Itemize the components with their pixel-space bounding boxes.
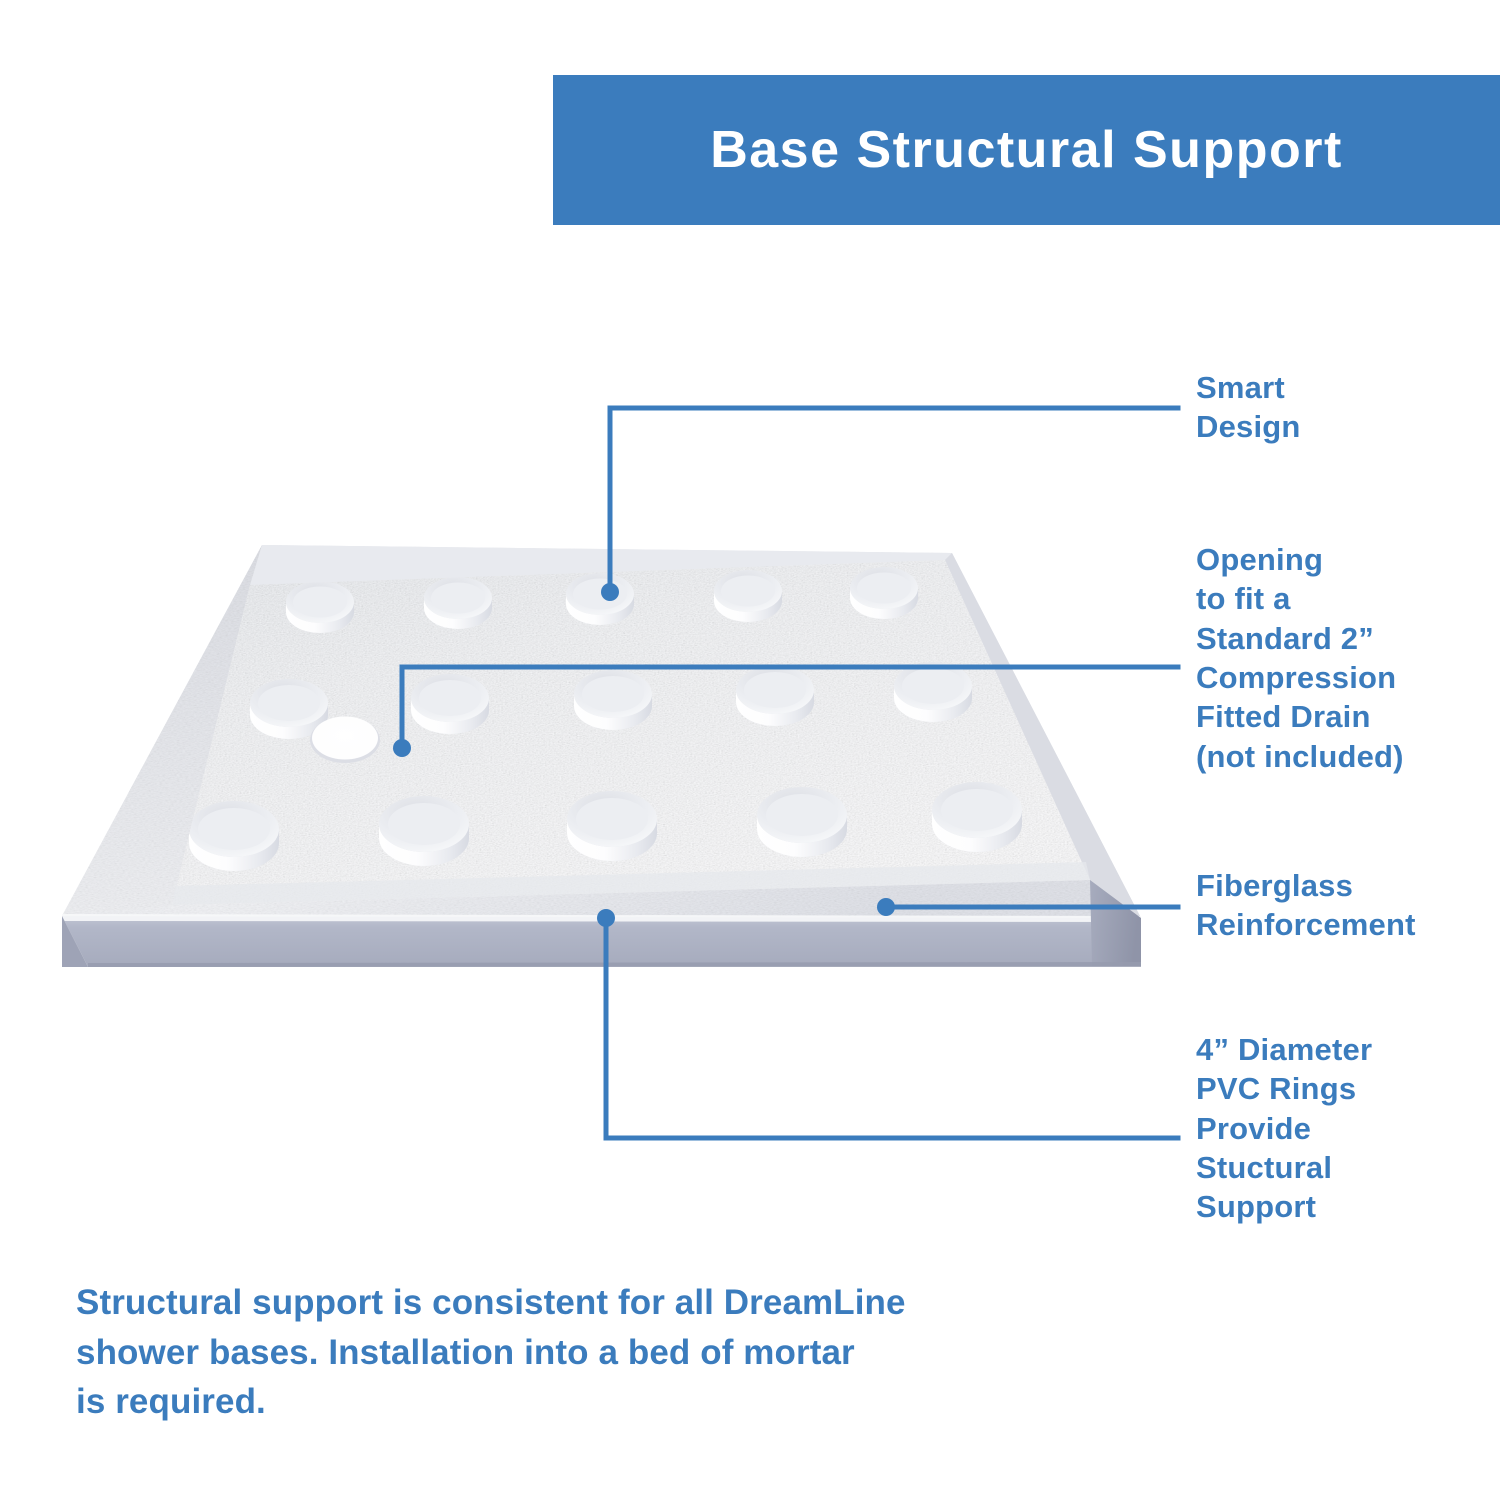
header-banner: Base Structural Support: [553, 75, 1500, 225]
leader-dot-drain-opening: [393, 739, 411, 757]
pvc-ring: [189, 801, 279, 871]
pvc-ring: [932, 782, 1022, 852]
leader-dot-smart-design: [601, 583, 619, 601]
pvc-ring: [566, 573, 634, 625]
callout-label-pvc-rings: 4” Diameter PVC Rings Provide Stuctural …: [1196, 1030, 1496, 1227]
pvc-ring: [379, 796, 469, 866]
leader-dot-pvc-rings: [597, 909, 615, 927]
pvc-ring: [411, 674, 489, 734]
pvc-ring: [567, 791, 657, 861]
footer-caption: Structural support is consistent for all…: [76, 1278, 996, 1427]
pvc-ring: [894, 662, 972, 722]
callout-label-smart-design: Smart Design: [1196, 368, 1496, 447]
leader-dot-fiberglass: [877, 898, 895, 916]
callout-label-drain-opening: Opening to fit a Standard 2” Compression…: [1196, 540, 1496, 776]
pvc-ring: [714, 570, 782, 622]
pvc-ring: [736, 666, 814, 726]
page-title: Base Structural Support: [710, 124, 1343, 176]
pvc-ring: [574, 670, 652, 730]
callout-label-fiberglass: Fiberglass Reinforcement: [1196, 866, 1496, 945]
pvc-ring: [757, 787, 847, 857]
infographic-canvas: Base Structural Support Smart Design Ope…: [0, 0, 1500, 1500]
pvc-ring: [850, 567, 918, 619]
pvc-ring: [424, 577, 492, 629]
pvc-ring: [286, 581, 354, 633]
